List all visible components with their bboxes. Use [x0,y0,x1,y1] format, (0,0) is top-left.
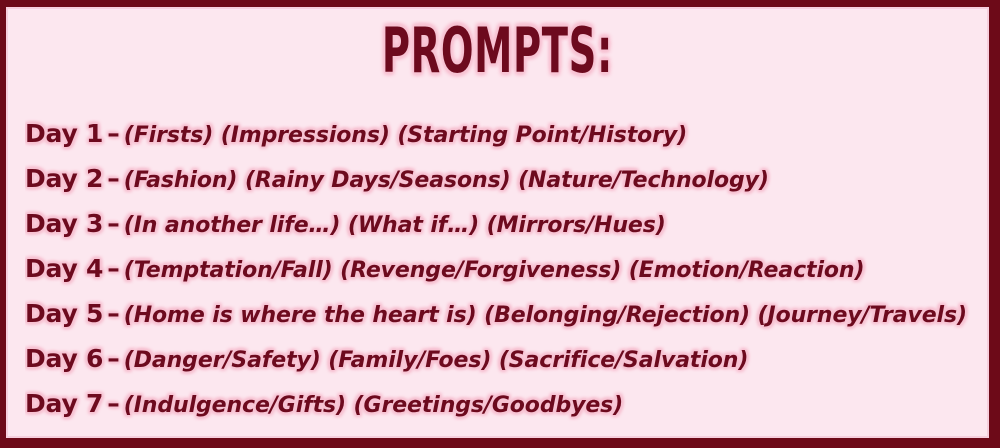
prompt-text: (Firsts) (Impressions) (Starting Point/H… [124,123,687,148]
prompt-text: (Home is where the heart is) (Belonging/… [124,303,967,328]
day-label: Day 3 [25,209,103,238]
separator-dash: – [103,164,124,193]
title-container: PROMPTS: [6,17,989,97]
page-title: PROMPTS: [382,17,613,85]
list-item: Day 1–(Firsts) (Impressions) (Starting P… [25,111,979,156]
prompt-text: (Indulgence/Gifts) (Greetings/Goodbyes) [124,393,623,418]
list-item: Day 3–(In another life…) (What if…) (Mir… [25,201,979,246]
list-item: Day 6–(Danger/Safety) (Family/Foes) (Sac… [25,336,979,381]
list-item: Day 5–(Home is where the heart is) (Belo… [25,291,979,336]
list-item: Day 7–(Indulgence/Gifts) (Greetings/Good… [25,381,979,426]
day-label: Day 4 [25,254,103,283]
separator-dash: – [103,299,124,328]
separator-dash: – [103,389,124,418]
prompt-list: Day 1–(Firsts) (Impressions) (Starting P… [25,111,979,426]
top-frame-nub [696,0,740,5]
prompt-text: (Danger/Safety) (Family/Foes) (Sacrifice… [124,348,749,373]
prompt-text: (In another life…) (What if…) (Mirrors/H… [124,213,666,238]
day-label: Day 1 [25,119,103,148]
separator-dash: – [103,344,124,373]
prompt-text: (Temptation/Fall) (Revenge/Forgiveness) … [124,258,865,283]
list-item: Day 2–(Fashion) (Rainy Days/Seasons) (Na… [25,156,979,201]
day-label: Day 7 [25,389,103,418]
prompt-text: (Fashion) (Rainy Days/Seasons) (Nature/T… [124,168,769,193]
separator-dash: – [103,119,124,148]
day-label: Day 2 [25,164,103,193]
prompts-poster: PROMPTS: Day 1–(Firsts) (Impressions) (S… [0,0,1000,448]
list-item: Day 4–(Temptation/Fall) (Revenge/Forgive… [25,246,979,291]
separator-dash: – [103,209,124,238]
separator-dash: – [103,254,124,283]
day-label: Day 6 [25,344,103,373]
day-label: Day 5 [25,299,103,328]
